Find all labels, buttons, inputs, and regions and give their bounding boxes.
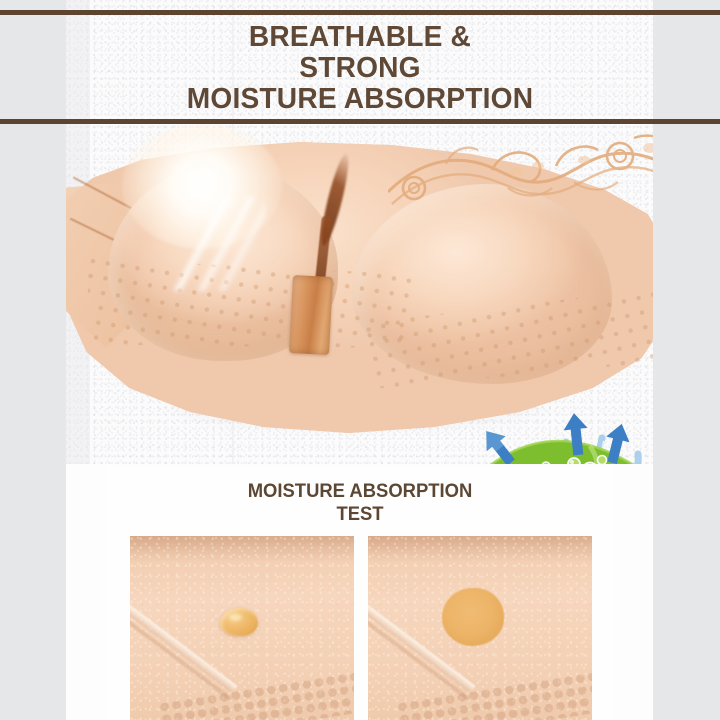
- test-shots: [130, 536, 592, 720]
- header-rule-bottom: [0, 119, 720, 124]
- water-droplet-beaded: [220, 608, 258, 636]
- header-rule-top: [0, 10, 720, 15]
- product-marketing-image: BREATHABLE & STRONG MOISTURE ABSORPTION …: [0, 0, 720, 720]
- title-line-1: BREATHABLE &: [11, 22, 709, 53]
- highlight-streaks: [146, 196, 266, 291]
- hero-product-photo: [66, 124, 653, 464]
- test-title-line-2: TEST: [116, 503, 605, 526]
- moisture-absorption-test-panel: MOISTURE ABSORPTION TEST: [108, 466, 612, 720]
- moisture-wicking-diagram: [470, 412, 653, 464]
- test-shot-after: [368, 536, 592, 720]
- title-line-3: MOISTURE ABSORPTION: [11, 84, 709, 115]
- lace-trim: [388, 126, 653, 236]
- title-line-2: STRONG: [11, 53, 709, 84]
- page-title: BREATHABLE & STRONG MOISTURE ABSORPTION: [11, 22, 709, 115]
- front-closure-clasp: [289, 275, 333, 355]
- test-panel-title: MOISTURE ABSORPTION TEST: [116, 480, 605, 526]
- test-title-line-1: MOISTURE ABSORPTION: [116, 480, 605, 503]
- test-shot-before: [130, 536, 354, 720]
- water-droplet-absorbed: [442, 588, 504, 646]
